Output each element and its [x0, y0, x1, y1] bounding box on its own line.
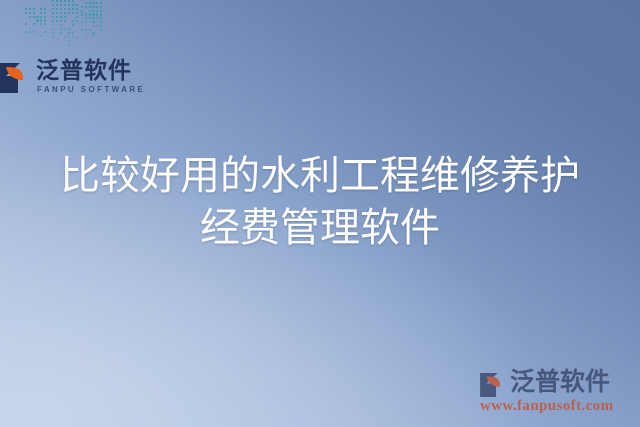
mosaic-cell	[52, 8, 54, 10]
mosaic-cell	[68, 32, 70, 34]
mosaic-cell	[92, 13, 94, 15]
mosaic-cell	[72, 20, 74, 22]
mosaic-cell	[68, 0, 70, 2]
mosaic-cell	[40, 35, 42, 37]
mosaic-cell	[81, 13, 83, 15]
mosaic-cell	[44, 23, 46, 25]
mosaic-cell	[64, 16, 66, 18]
mosaic-cell	[72, 8, 74, 10]
mosaic-cell	[100, 25, 102, 27]
mosaic-cell	[96, 17, 98, 19]
mosaic-cell	[81, 6, 83, 8]
mosaic-cell	[52, 28, 54, 30]
mosaic-cell	[100, 2, 102, 4]
mosaic-cell	[72, 0, 74, 2]
promo-banner: 泛普软件 FANPU SOFTWARE 比较好用的水利工程维修养护 经费管理软件…	[0, 0, 640, 427]
mosaic-cell	[100, 10, 102, 12]
mosaic-cell	[89, 10, 91, 12]
fanpu-watermark-mark-icon	[478, 369, 511, 401]
mosaic-cell	[76, 20, 78, 22]
mosaic-cell	[72, 32, 74, 34]
mosaic-cell	[68, 40, 70, 42]
page-title: 比较好用的水利工程维修养护 经费管理软件	[0, 150, 640, 254]
brand-name-en: FANPU SOFTWARE	[37, 85, 145, 94]
mosaic-cell	[89, 6, 91, 8]
mosaic-cell	[29, 8, 31, 10]
mosaic-cell	[96, 13, 98, 15]
mosaic-cell	[100, 29, 102, 31]
mosaic-cell	[40, 16, 42, 18]
mosaic-cell	[52, 20, 54, 22]
mosaic-cell	[85, 2, 87, 4]
mosaic-cell	[92, 32, 94, 34]
mosaic-cell	[25, 12, 27, 14]
mosaic-cell	[36, 16, 38, 18]
watermark-name-cn: 泛普软件	[510, 367, 610, 397]
mosaic-cell	[44, 16, 46, 18]
mosaic-cell	[92, 6, 94, 8]
watermark-url: www.fanpusoft.com	[480, 398, 613, 415]
mosaic-cell	[64, 28, 66, 30]
mosaic-cell	[52, 4, 54, 6]
mosaic-cell	[76, 12, 78, 14]
mosaic-cell	[60, 0, 62, 2]
mosaic-cell	[100, 21, 102, 23]
mosaic-cell	[29, 12, 31, 14]
mosaic-cell	[100, 6, 102, 8]
mosaic-cell	[81, 10, 83, 12]
mosaic-cell	[92, 17, 94, 19]
mosaic-cell	[96, 2, 98, 4]
mosaic-cell	[60, 4, 62, 6]
mosaic-cell	[40, 19, 42, 21]
page-title-line-1: 比较好用的水利工程维修养护	[0, 150, 640, 202]
mosaic-cell	[76, 8, 78, 10]
mosaic-cell	[56, 20, 58, 22]
mosaic-cell	[76, 16, 78, 18]
mosaic-cell	[81, 21, 83, 23]
mosaic-cell	[68, 28, 70, 30]
mosaic-cell	[33, 12, 35, 14]
mosaic-cell	[56, 12, 58, 14]
mosaic-cell	[52, 0, 54, 2]
mosaic-cell	[25, 23, 27, 25]
mosaic-cell	[60, 28, 62, 30]
mosaic-cell	[56, 16, 58, 18]
mosaic-cell	[85, 17, 87, 19]
mosaic-cell	[72, 12, 74, 14]
mosaic-cell	[64, 20, 66, 22]
mosaic-cell	[60, 12, 62, 14]
mosaic-cell	[44, 8, 46, 10]
mosaic-cell	[52, 12, 54, 14]
mosaic-cell	[25, 8, 27, 10]
mosaic-cell	[56, 8, 58, 10]
mosaic-cell	[56, 4, 58, 6]
mosaic-cell	[89, 17, 91, 19]
mosaic-cell	[68, 12, 70, 14]
mosaic-cell	[85, 13, 87, 15]
mosaic-cell	[76, 4, 78, 6]
mosaic-cell	[40, 8, 42, 10]
mosaic-cell	[85, 21, 87, 23]
mosaic-cell	[52, 16, 54, 18]
mosaic-cell	[89, 29, 91, 31]
mosaic-cell	[36, 19, 38, 21]
watermark: 泛普软件 www.fanpusoft.com	[472, 367, 636, 421]
mosaic-cell	[64, 36, 66, 38]
mosaic-band	[81, 2, 105, 48]
mosaic-cell	[96, 10, 98, 12]
mosaic-cell	[68, 36, 70, 38]
mosaic-cell	[85, 29, 87, 31]
mosaic-cell	[76, 36, 78, 38]
mosaic-cell	[29, 31, 31, 33]
mosaic-cell	[40, 12, 42, 14]
mosaic-cell	[68, 4, 70, 6]
mosaic-cell	[89, 13, 91, 15]
mosaic-cell	[60, 16, 62, 18]
mosaic-cell	[64, 4, 66, 6]
mosaic-cell	[92, 21, 94, 23]
mosaic-cell	[60, 8, 62, 10]
mosaic-cell	[96, 25, 98, 27]
mosaic-cell	[85, 36, 87, 38]
mosaic-cell	[60, 32, 62, 34]
mosaic-cell	[92, 25, 94, 27]
mosaic-band	[52, 0, 80, 52]
brand-logo: 泛普软件 FANPU SOFTWARE	[0, 57, 150, 103]
mosaic-cell	[52, 36, 54, 38]
brand-name-cn: 泛普软件	[36, 56, 132, 84]
mosaic-cell	[81, 29, 83, 31]
mosaic-cell	[44, 19, 46, 21]
mosaic-cell	[33, 16, 35, 18]
mosaic-cell	[52, 32, 54, 34]
mosaic-cell	[85, 6, 87, 8]
mosaic-cell	[89, 2, 91, 4]
mosaic-cell	[44, 12, 46, 14]
mosaic-cell	[64, 12, 66, 14]
mosaic-cell	[72, 24, 74, 26]
mosaic-cell	[96, 6, 98, 8]
mosaic-band	[25, 8, 51, 52]
mosaic-cell	[72, 36, 74, 38]
mosaic-cell	[100, 17, 102, 19]
page-title-line-2: 经费管理软件	[0, 202, 640, 254]
mosaic-cell	[60, 20, 62, 22]
mosaic-cell	[56, 0, 58, 2]
mosaic-cell	[92, 10, 94, 12]
mosaic-cell	[60, 24, 62, 26]
mosaic-cell	[72, 4, 74, 6]
mosaic-cell	[25, 31, 27, 33]
mosaic-cell	[64, 0, 66, 2]
fanpu-logo-mark-icon	[0, 58, 36, 98]
mosaic-cell	[68, 8, 70, 10]
mosaic-cell	[33, 23, 35, 25]
mosaic-cell	[44, 31, 46, 33]
mosaic-cell	[92, 2, 94, 4]
mosaic-cell	[100, 13, 102, 15]
mosaic-cell	[68, 44, 70, 46]
mosaic-cell	[29, 16, 31, 18]
mosaic-cell	[64, 8, 66, 10]
mosaic-cell	[40, 23, 42, 25]
mosaic-cell	[33, 8, 35, 10]
mosaic-cell	[33, 31, 35, 33]
